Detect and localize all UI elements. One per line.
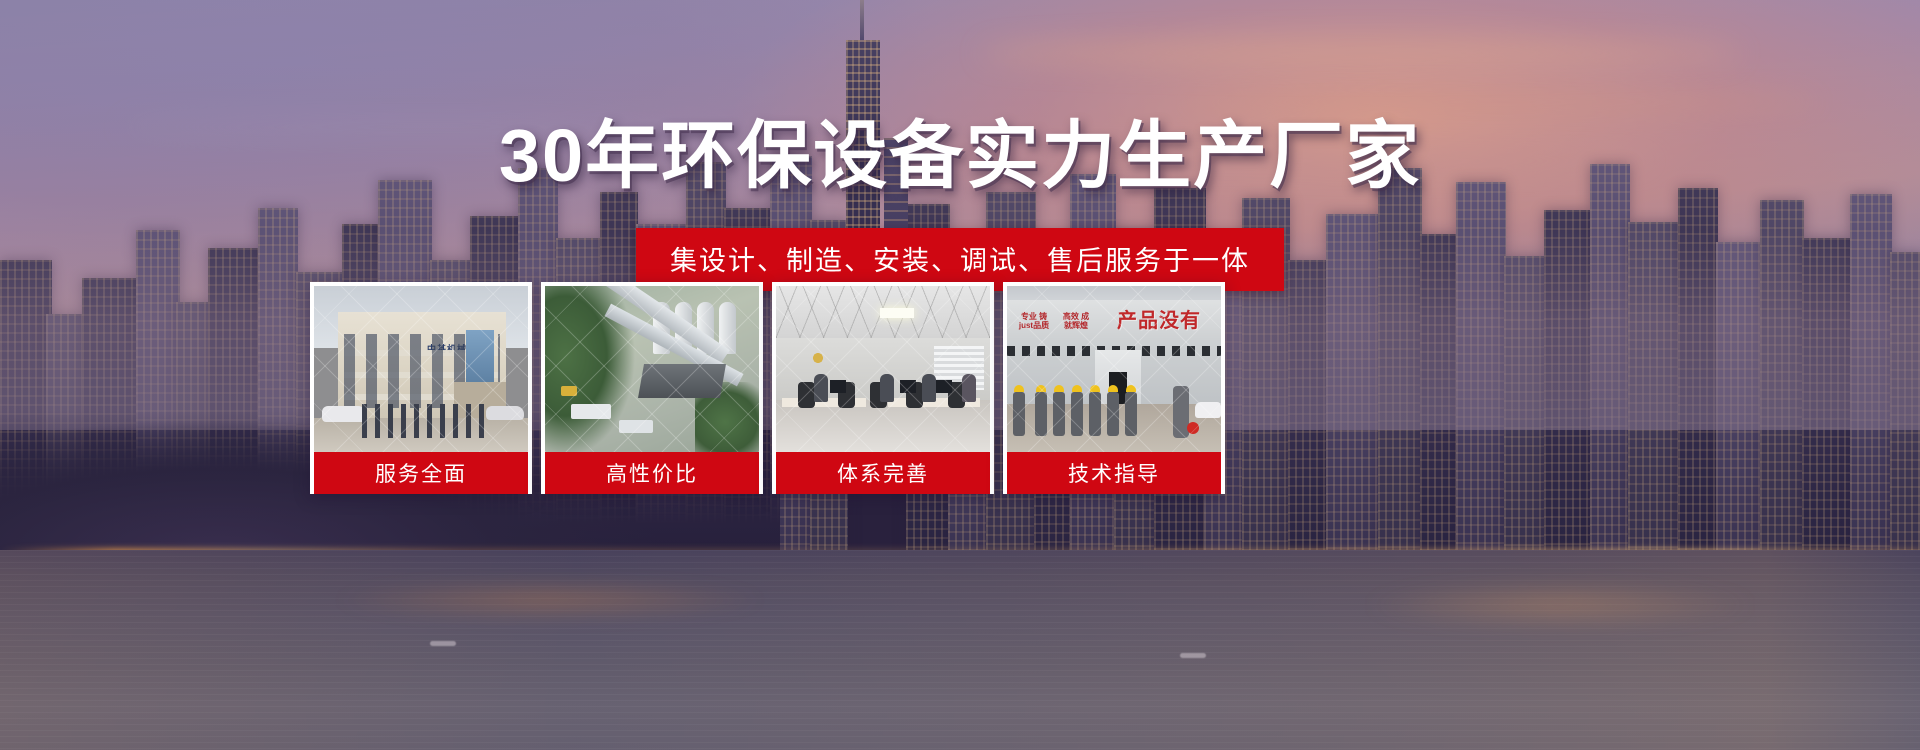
staff-row (362, 404, 490, 438)
card-photo-factory-workshop-with-workers: 产品没有 专业 铸just品质 高效 成就辉煌 (1007, 286, 1221, 452)
feature-card[interactable]: 体系完善 (772, 282, 994, 494)
feature-card-list: 中基机械 服务全面 (310, 282, 1225, 494)
banner-content: 30年环保设备实力生产厂家 集设计、制造、安装、调试、售后服务于一体 中基机械 (0, 0, 1920, 750)
factory-slogan-left: 专业 铸just品质 (1017, 310, 1051, 334)
card-photo-company-office-building-with-staff: 中基机械 (314, 286, 528, 452)
card-photo-aerial-view-industrial-plant (545, 286, 759, 452)
red-helmet (1187, 422, 1199, 434)
card-label: 技术指导 (1007, 452, 1221, 494)
factory-signage: 产品没有 (1103, 304, 1215, 332)
feature-card[interactable]: 中基机械 服务全面 (310, 282, 532, 494)
factory-slogan-right: 高效 成就辉煌 (1059, 310, 1093, 334)
card-label: 高性价比 (545, 452, 759, 494)
feature-card[interactable]: 产品没有 专业 铸just品质 高效 成就辉煌 技术指导 (1003, 282, 1225, 494)
card-label: 服务全面 (314, 452, 528, 494)
wall-logo (804, 348, 832, 368)
feature-card[interactable]: 高性价比 (541, 282, 763, 494)
card-label: 体系完善 (776, 452, 990, 494)
banner-headline: 30年环保设备实力生产厂家 (0, 96, 1920, 203)
card-photo-office-interior-staff-at-desks (776, 286, 990, 452)
hero-banner: 30年环保设备实力生产厂家 集设计、制造、安装、调试、售后服务于一体 中基机械 (0, 0, 1920, 750)
